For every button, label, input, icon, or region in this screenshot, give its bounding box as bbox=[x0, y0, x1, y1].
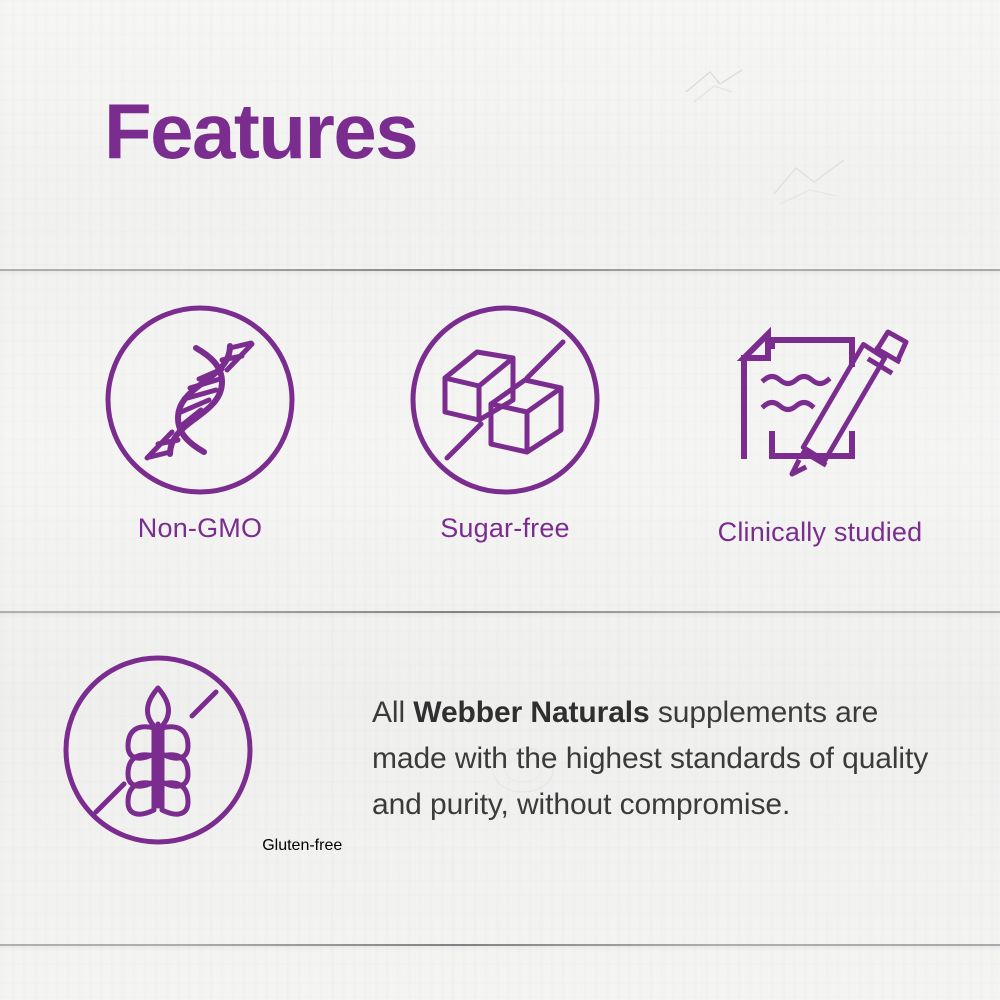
feature-non-gmo: Non-GMO bbox=[55, 300, 345, 544]
feature-label-non-gmo: Non-GMO bbox=[55, 513, 345, 544]
page-title: Features bbox=[104, 92, 417, 170]
plank-seam-2 bbox=[0, 611, 1000, 613]
wood-knot-mid bbox=[770, 150, 850, 210]
feature-sugar-free: Sugar-free bbox=[360, 300, 650, 544]
blurb-brand: Webber Naturals bbox=[413, 696, 649, 729]
brand-blurb: All Webber Naturals supplements are made… bbox=[372, 690, 932, 828]
feature-label-clinically-studied: Clinically studied bbox=[665, 517, 975, 548]
feature-label-sugar-free: Sugar-free bbox=[360, 513, 650, 544]
features-panel: Features bbox=[0, 0, 1000, 1000]
sugar-cubes-no-symbol-icon bbox=[360, 300, 650, 505]
plank-seam-1 bbox=[0, 269, 1000, 271]
wood-knot-top bbox=[680, 62, 750, 110]
document-and-pen-icon bbox=[665, 316, 975, 491]
blurb-lead: All bbox=[372, 696, 413, 729]
wood-grain-band-bottom bbox=[0, 949, 1000, 1000]
plank-seam-3 bbox=[0, 944, 1000, 946]
wheat-stalk-no-symbol-icon bbox=[58, 837, 262, 854]
dna-helix-no-symbol-icon bbox=[55, 300, 345, 505]
feature-gluten-free: Gluten-free bbox=[55, 650, 345, 855]
feature-clinically-studied: Clinically studied bbox=[665, 300, 975, 548]
feature-label-gluten-free: Gluten-free bbox=[262, 837, 342, 854]
